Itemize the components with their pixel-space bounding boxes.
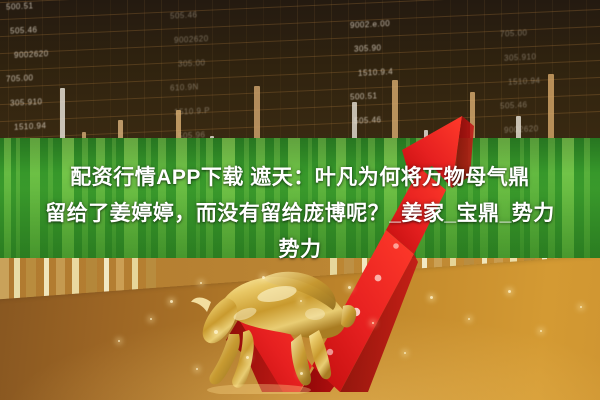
quote-number: 1510.9.4: [358, 67, 393, 78]
board-gridline: [127, 0, 128, 150]
headline-caption: 配资行情APP下载 遮天：叶凡为何将万物母气鼎 留给了姜婷婷，而没有留给庞博呢？…: [0, 160, 600, 268]
sparkle: [214, 330, 218, 334]
quote-number: 305.910: [504, 52, 536, 63]
board-gridline: [195, 0, 196, 150]
sparkle: [150, 318, 152, 320]
stock-news-thumbnail: 500.51505.469002620705.00305.9101510.945…: [0, 0, 600, 400]
sparkle: [348, 286, 351, 289]
board-gridline: [93, 0, 94, 150]
stock-quote-board: 500.51505.469002620705.00305.9101510.945…: [0, 0, 600, 150]
sparkle: [118, 340, 120, 342]
quote-number: 500.51: [350, 91, 377, 101]
sparkle: [196, 368, 198, 370]
sparkle: [580, 306, 582, 308]
sparkle: [246, 356, 249, 359]
quote-number: 9002620: [14, 49, 49, 60]
board-gridline: [450, 0, 451, 150]
sparkle: [262, 276, 265, 279]
quote-number: 305.90: [354, 43, 381, 53]
quote-number: 305.910: [10, 97, 42, 108]
board-gridline: [433, 0, 434, 150]
sparkle: [300, 372, 303, 375]
board-gridline: [399, 0, 400, 150]
board-gridline: [348, 0, 349, 150]
quote-number: 9002620: [504, 124, 539, 135]
quote-number: 305.00: [178, 58, 205, 68]
quote-number: 505.46: [10, 25, 37, 35]
sparkle: [404, 352, 406, 354]
quote-number: 1510.94: [14, 121, 46, 132]
board-gridline: [110, 0, 111, 150]
headline-line-3: 势力: [0, 232, 600, 268]
golden-bull-icon: [185, 262, 360, 394]
board-gridline: [467, 0, 468, 150]
sparkle: [540, 330, 542, 332]
sparkle: [430, 296, 433, 299]
board-gridline: [76, 0, 77, 150]
board-gridline: [161, 0, 162, 150]
headline-line-2: 留给了姜婷婷，而没有留给庞博呢？_姜家_宝鼎_势力: [0, 196, 600, 232]
board-gridline: [501, 0, 502, 150]
board-gridline: [569, 0, 570, 150]
quote-number: 505.46: [354, 115, 381, 125]
board-gridline: [586, 0, 587, 150]
quote-number: 500.51: [6, 1, 33, 11]
headline-line-1: 配资行情APP下载 遮天：叶凡为何将万物母气鼎: [0, 160, 600, 196]
board-gridline: [484, 0, 485, 150]
sparkle: [372, 322, 374, 324]
quote-number: 505.46: [170, 10, 197, 20]
quote-number: 705.00: [500, 28, 527, 38]
quote-number: 505.46: [500, 100, 527, 110]
board-gridline: [331, 0, 332, 150]
board-gridline: [416, 0, 417, 150]
board-gridline: [144, 0, 145, 150]
board-gridline: [0, 0, 600, 22]
quote-number: 9002620: [174, 34, 209, 45]
sparkle: [300, 300, 302, 302]
quote-number: 610.9N: [170, 82, 199, 93]
sparkle: [200, 282, 202, 284]
sparkle: [508, 290, 511, 293]
quote-number: 9002.e.00: [350, 19, 390, 30]
sparkle: [170, 300, 173, 303]
quote-number: 1510.94: [508, 76, 540, 87]
quote-number: 705.00: [6, 73, 33, 83]
sparkle: [468, 318, 470, 320]
board-gridline: [0, 0, 600, 5]
